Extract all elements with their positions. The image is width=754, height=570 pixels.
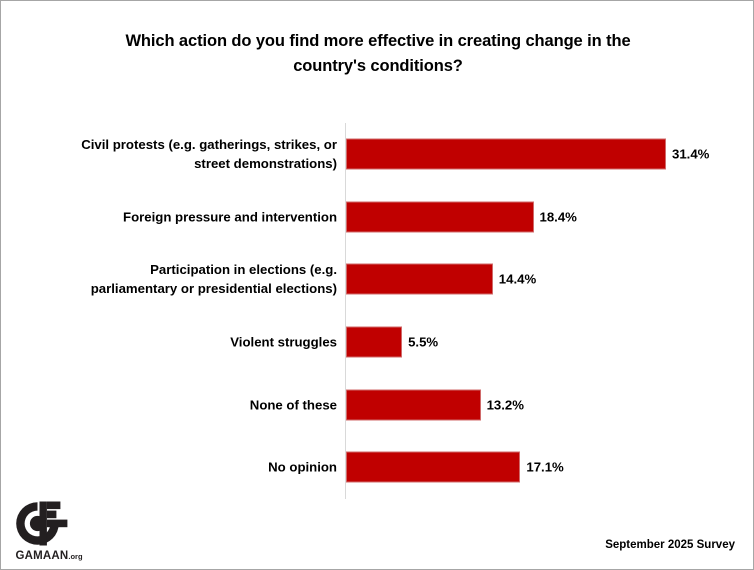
category-label: Civil protests (e.g. gatherings, strikes… xyxy=(7,135,337,173)
bar-row: Foreign pressure and intervention 18.4% xyxy=(1,186,754,249)
bar-wrap: 31.4% xyxy=(346,139,709,170)
bar-value-label: 5.5% xyxy=(408,335,438,350)
category-label: Violent struggles xyxy=(7,333,337,352)
gamaan-logo: GAMAAN.org xyxy=(10,500,88,562)
bar-value-label: 13.2% xyxy=(487,397,524,412)
bar-row: No opinion 17.1% xyxy=(1,436,754,499)
bar-wrap: 17.1% xyxy=(346,452,564,483)
category-label: Participation in elections (e.g. parliam… xyxy=(7,260,337,298)
bar-value-label: 17.1% xyxy=(526,460,563,475)
bar-none-of-these[interactable] xyxy=(346,389,481,420)
bar-participation-elections[interactable] xyxy=(346,264,493,295)
bar-no-opinion[interactable] xyxy=(346,452,520,483)
bar-wrap: 18.4% xyxy=(346,201,577,232)
bar-wrap: 14.4% xyxy=(346,264,536,295)
bar-row: None of these 13.2% xyxy=(1,373,754,436)
bar-value-label: 18.4% xyxy=(540,209,577,224)
category-label-line: No opinion xyxy=(7,458,337,477)
plot-area: Civil protests (e.g. gatherings, strikes… xyxy=(1,1,754,570)
logo-tld: .org xyxy=(68,552,82,561)
category-label: No opinion xyxy=(7,458,337,477)
gamaan-logo-wordmark: GAMAAN.org xyxy=(10,546,88,564)
category-label-line: None of these xyxy=(7,395,337,414)
category-label-line: Civil protests (e.g. gatherings, strikes… xyxy=(7,135,337,154)
category-label-line: street demonstrations) xyxy=(7,154,337,173)
category-label-line: Violent struggles xyxy=(7,333,337,352)
bar-row: Civil protests (e.g. gatherings, strikes… xyxy=(1,123,754,186)
bar-value-label: 31.4% xyxy=(672,147,709,162)
bar-value-label: 14.4% xyxy=(499,272,536,287)
bar-wrap: 5.5% xyxy=(346,327,438,358)
category-label: Foreign pressure and intervention xyxy=(7,207,337,226)
bar-row: Violent struggles 5.5% xyxy=(1,311,754,374)
logo-name: GAMAAN xyxy=(15,550,68,562)
gamaan-logo-icon xyxy=(12,500,74,547)
category-label: None of these xyxy=(7,395,337,414)
bar-foreign-pressure[interactable] xyxy=(346,201,534,232)
category-label-line: Foreign pressure and intervention xyxy=(7,207,337,226)
bar-wrap: 13.2% xyxy=(346,389,524,420)
category-label-line: Participation in elections (e.g. xyxy=(7,260,337,279)
category-label-line: parliamentary or presidential elections) xyxy=(7,279,337,298)
survey-date-note: September 2025 Survey xyxy=(605,539,735,551)
bar-civil-protests[interactable] xyxy=(346,139,666,170)
bar-row: Participation in elections (e.g. parliam… xyxy=(1,248,754,311)
bar-violent-struggles[interactable] xyxy=(346,327,402,358)
chart-container: Which action do you find more effective … xyxy=(0,0,754,570)
